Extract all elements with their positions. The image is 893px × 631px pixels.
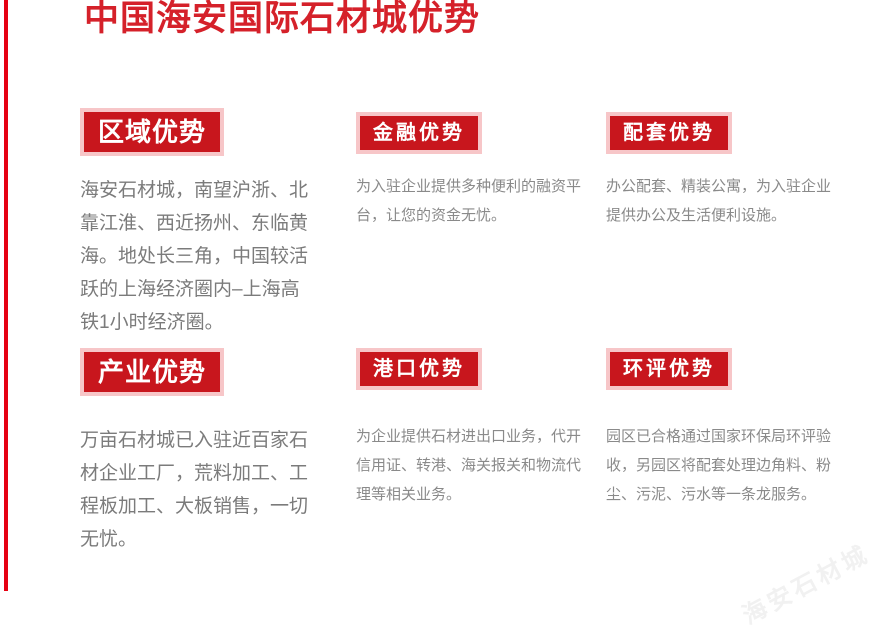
advantage-badge-region: 区域优势 [84, 112, 220, 152]
advantage-card-region: 区域优势 海安石材城，南望沪浙、北靠江淮、西近扬州、东临黄海。地处长三角，中国较… [80, 108, 316, 339]
advantage-body-industry: 万亩石材城已入驻近百家石材企业工厂，荒料加工、工程板加工、大板销售，一切无忧。 [80, 424, 316, 556]
advantage-card-finance: 金融优势 为入驻企业提供多种便利的融资平台，让您的资金无忧。 [356, 112, 584, 230]
badge-frame-industry: 产业优势 [80, 348, 224, 396]
advantage-body-epa: 园区已合格通过国家环保局环评验收，另园区将配套处理边角料、粉尘、污泥、污水等一条… [606, 422, 834, 509]
badge-frame-region: 区域优势 [80, 108, 224, 156]
advantage-body-region: 海安石材城，南望沪浙、北靠江淮、西近扬州、东临黄海。地处长三角，中国较活跃的上海… [80, 174, 316, 339]
advantage-card-industry: 产业优势 万亩石材城已入驻近百家石材企业工厂，荒料加工、工程板加工、大板销售，一… [80, 348, 316, 556]
left-red-rail [4, 0, 8, 591]
advantage-badge-port: 港口优势 [360, 352, 478, 386]
page-title: 中国海安国际石材城优势 [84, 0, 480, 42]
advantage-card-epa: 环评优势 园区已合格通过国家环保局环评验收，另园区将配套处理边角料、粉尘、污泥、… [606, 348, 834, 509]
badge-frame-epa: 环评优势 [606, 348, 732, 390]
advantage-badge-finance: 金融优势 [360, 116, 478, 150]
advantage-card-port: 港口优势 为企业提供石材进出口业务，代开信用证、转港、海关报关和物流代理等相关业… [356, 348, 584, 509]
badge-frame-finance: 金融优势 [356, 112, 482, 154]
advantage-card-support: 配套优势 办公配套、精装公寓，为入驻企业提供办公及生活便利设施。 [606, 112, 834, 230]
badge-frame-support: 配套优势 [606, 112, 732, 154]
advantage-body-finance: 为入驻企业提供多种便利的融资平台，让您的资金无忧。 [356, 172, 584, 230]
advantage-body-support: 办公配套、精装公寓，为入驻企业提供办公及生活便利设施。 [606, 172, 834, 230]
badge-frame-port: 港口优势 [356, 348, 482, 390]
advantage-badge-support: 配套优势 [610, 116, 728, 150]
advantages-page: 中国海安国际石材城优势 区域优势 海安石材城，南望沪浙、北靠江淮、西近扬州、东临… [0, 0, 893, 591]
page-watermark: 海安石材城 [735, 534, 875, 631]
advantage-badge-industry: 产业优势 [84, 352, 220, 392]
advantage-badge-epa: 环评优势 [610, 352, 728, 386]
advantage-body-port: 为企业提供石材进出口业务，代开信用证、转港、海关报关和物流代理等相关业务。 [356, 422, 584, 509]
